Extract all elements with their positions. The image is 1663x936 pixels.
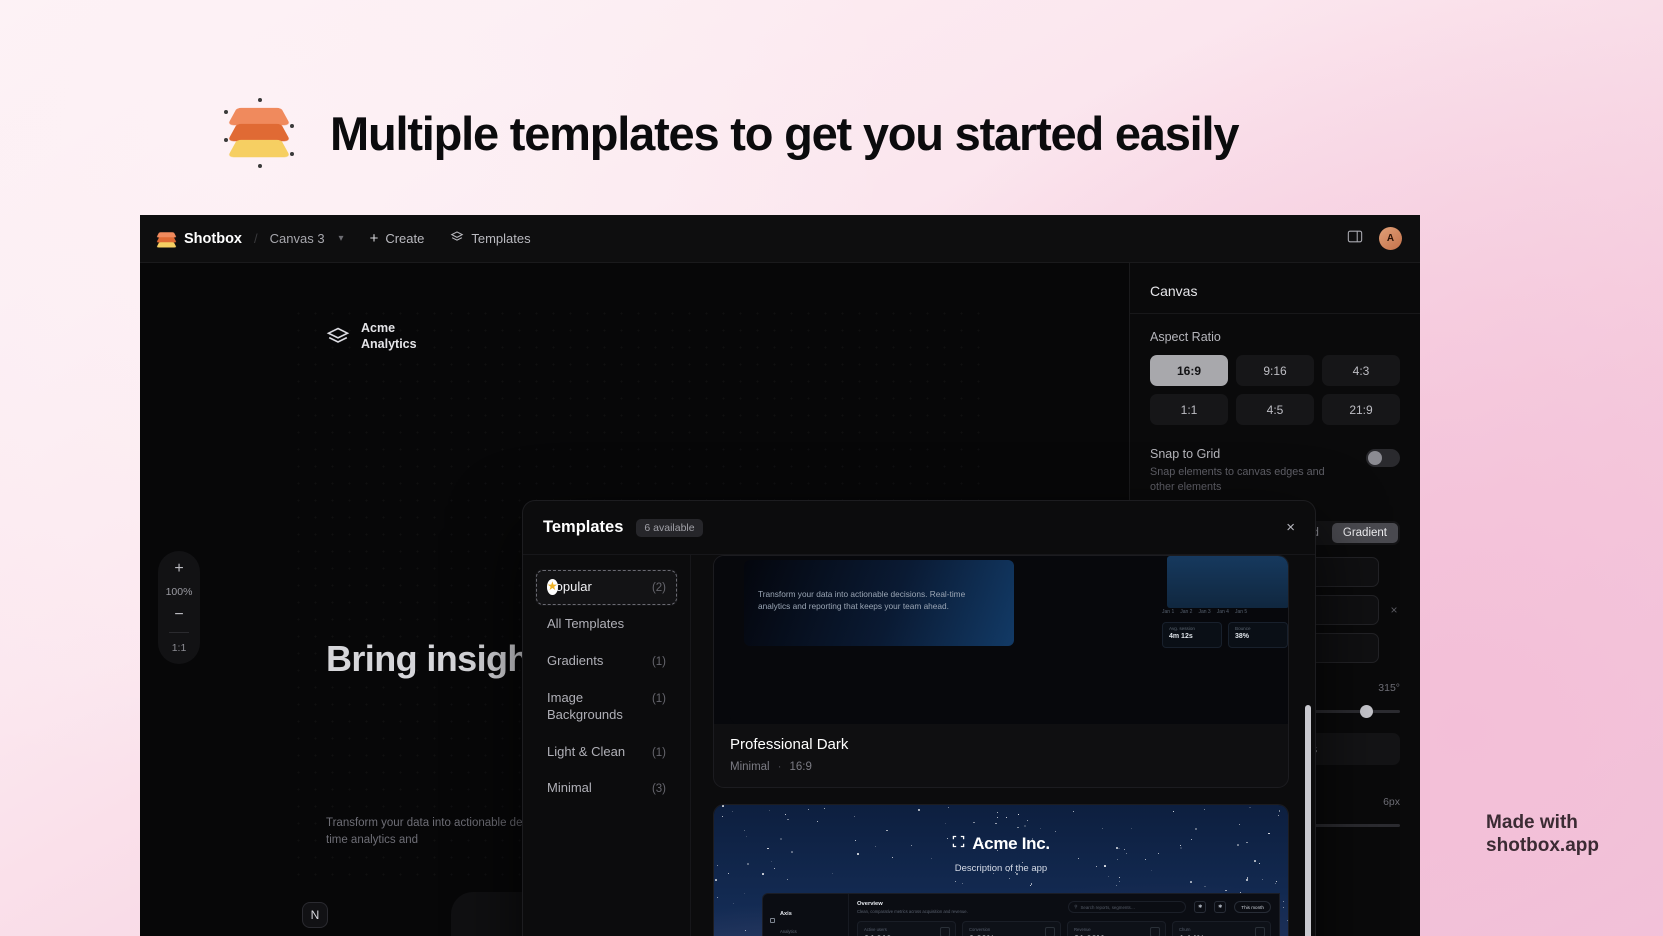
ratio-16-9[interactable]: 16:9 xyxy=(1150,355,1228,386)
category-popular[interactable]: ★ Popular (2) xyxy=(535,569,678,606)
category-count: (1) xyxy=(652,692,666,707)
create-button[interactable]: + Create xyxy=(370,230,425,247)
ratio-4-5[interactable]: 4:5 xyxy=(1236,394,1314,425)
modal-header: Templates 6 available × xyxy=(523,501,1315,555)
panel-title: Canvas xyxy=(1130,263,1420,313)
ratio-21-9[interactable]: 21:9 xyxy=(1322,394,1400,425)
background-mode-gradient[interactable]: Gradient xyxy=(1332,523,1398,543)
category-label: Image Backgrounds xyxy=(547,690,644,724)
users-icon xyxy=(940,927,950,936)
star-icon: ★ xyxy=(547,579,558,595)
category-label: Gradients xyxy=(547,653,603,670)
template-preview: Transform your data into actionable deci… xyxy=(714,556,1288,724)
templates-button[interactable]: Templates xyxy=(450,230,530,247)
template-preview: Acme Inc. Description of the app Axis xyxy=(714,805,1288,936)
aspect-ratio-grid: 16:9 9:16 4:3 1:1 4:5 21:9 xyxy=(1150,355,1400,425)
category-gradients[interactable]: Gradients (1) xyxy=(535,643,678,680)
template-meta: Professional Dark Minimal · 16:9 xyxy=(714,724,1288,787)
category-image-backgrounds[interactable]: Image Backgrounds (1) xyxy=(535,680,678,734)
crop-frame-icon xyxy=(952,833,965,846)
preview-hero-text: Transform your data into actionable deci… xyxy=(758,588,998,613)
preview-axis: Jan 1 Jan 2 Jan 3 Jan 4 Jan 5 xyxy=(1162,609,1288,615)
kpi-row: Active users 84,219 +12.4%vs last 30 day… xyxy=(857,921,1271,936)
slider-knob[interactable] xyxy=(1360,705,1373,718)
category-all-templates[interactable]: All Templates xyxy=(535,606,678,643)
zoom-level: 100% xyxy=(166,586,193,598)
templates-modal: Templates 6 available × ★ Popular (2) Al… xyxy=(522,500,1316,936)
ratio-4-3[interactable]: 4:3 xyxy=(1322,355,1400,386)
watermark: Made with shotbox.app xyxy=(1486,811,1599,859)
template-card[interactable]: Transform your data into actionable deci… xyxy=(713,555,1289,788)
template-card[interactable]: Acme Inc. Description of the app Axis xyxy=(713,804,1289,936)
category-count: (3) xyxy=(652,782,666,797)
page-title: Multiple templates to get you started ea… xyxy=(330,106,1238,161)
aspect-ratio-label: Aspect Ratio xyxy=(1150,330,1400,344)
asterisk-icon[interactable]: ✱ xyxy=(1214,901,1226,913)
kpi-card: Churn 1.14% -0.3%vs last 30 days xyxy=(1172,921,1271,936)
template-name: Professional Dark xyxy=(730,736,1272,753)
search-icon: ⚲ xyxy=(1074,904,1077,910)
app-window: Shotbox / Canvas 3 ▾ + Create Templates … xyxy=(140,215,1420,936)
create-label: Create xyxy=(385,231,424,246)
aspect-ratio-section: Aspect Ratio 16:9 9:16 4:3 1:1 4:5 21:9 xyxy=(1130,314,1420,425)
card-icon xyxy=(1150,927,1160,936)
preview-hero: Transform your data into actionable deci… xyxy=(744,560,1014,646)
preview-stat: Avg. session 4m 12s xyxy=(1162,622,1222,648)
ratio-1-1[interactable]: 1:1 xyxy=(1150,394,1228,425)
template-ratio: 16:9 xyxy=(789,761,811,773)
category-count: (1) xyxy=(652,746,666,761)
shotbox-logo-icon xyxy=(158,230,175,248)
modal-title: Templates xyxy=(543,518,623,537)
category-label: Light & Clean xyxy=(547,744,625,761)
brand-name: Shotbox xyxy=(184,231,242,247)
zoom-reset-button[interactable]: 1:1 xyxy=(172,642,187,654)
zoom-in-button[interactable]: + xyxy=(174,561,183,577)
dot-separator: · xyxy=(778,761,782,773)
roundness-value: 6px xyxy=(1383,796,1400,808)
category-minimal[interactable]: Minimal (3) xyxy=(535,770,678,807)
preview-subtitle: Description of the app xyxy=(714,863,1288,874)
breadcrumb-separator: / xyxy=(254,231,258,246)
artboard-brand: Acme Analytics xyxy=(326,321,417,352)
sparkle-icon[interactable]: ✱ xyxy=(1194,901,1206,913)
pulse-icon xyxy=(1045,927,1055,936)
stacked-layers-icon xyxy=(222,96,296,170)
close-icon[interactable]: × xyxy=(1388,603,1400,617)
close-icon[interactable]: × xyxy=(1286,520,1295,535)
category-label: All Templates xyxy=(547,616,624,633)
artboard-brand-text: Acme Analytics xyxy=(361,321,417,352)
template-grid[interactable]: Transform your data into actionable deci… xyxy=(691,555,1315,936)
snap-to-grid-toggle[interactable] xyxy=(1366,449,1400,467)
dashboard-sidebar: Axis Analytics Overview xyxy=(763,894,849,936)
kpi-card: Conversion 3.82% +0.6%vs last 30 days xyxy=(962,921,1061,936)
brand[interactable]: Shotbox xyxy=(158,230,242,248)
dashboard-brand: Axis Analytics xyxy=(770,902,841,936)
category-count: (1) xyxy=(652,655,666,670)
status-badge: 6 available xyxy=(636,519,702,537)
rotation-value: 315° xyxy=(1378,682,1400,694)
layers-icon xyxy=(326,326,350,348)
promo-banner: Multiple templates to get you started ea… xyxy=(0,78,1663,188)
category-light-clean[interactable]: Light & Clean (1) xyxy=(535,734,678,771)
category-list: ★ Popular (2) All Templates Gradients (1… xyxy=(523,555,691,936)
preview-title: Acme Inc. xyxy=(714,833,1288,854)
category-count: (2) xyxy=(652,581,666,596)
zoom-out-button[interactable]: − xyxy=(174,607,183,623)
avatar[interactable]: A xyxy=(1379,227,1402,250)
top-toolbar: Shotbox / Canvas 3 ▾ + Create Templates … xyxy=(140,215,1420,263)
modal-scrollbar[interactable] xyxy=(1305,705,1311,936)
templates-label: Templates xyxy=(471,231,530,246)
panel-layout-icon[interactable] xyxy=(1347,229,1363,249)
preview-stat: Bounce 38% xyxy=(1228,622,1288,648)
template-category: Minimal xyxy=(730,761,770,773)
dashboard-main: Overview Clean, comparative metrics acro… xyxy=(849,894,1279,936)
category-label: Minimal xyxy=(547,780,592,797)
corner-badge[interactable]: N xyxy=(302,902,328,928)
kpi-card: Revenue $1.28M +8.1%vs last 30 days xyxy=(1067,921,1166,936)
dashboard-search-input[interactable]: ⚲ Search reports, segments… xyxy=(1068,901,1186,913)
zoom-controls[interactable]: + 100% − 1:1 xyxy=(158,551,200,664)
layers-icon xyxy=(450,230,464,247)
user-icon xyxy=(770,918,775,923)
snap-to-grid-label: Snap to Grid xyxy=(1150,447,1350,461)
date-range-button[interactable]: This month xyxy=(1234,901,1271,913)
ratio-9-16[interactable]: 9:16 xyxy=(1236,355,1314,386)
chevron-down-icon[interactable]: ▾ xyxy=(339,233,344,244)
plus-icon: + xyxy=(370,230,379,247)
dashboard-header: Overview Clean, comparative metrics acro… xyxy=(857,901,1271,914)
kpi-card: Active users 84,219 +12.4%vs last 30 day… xyxy=(857,921,956,936)
canvas-name[interactable]: Canvas 3 xyxy=(270,231,325,246)
modal-body: ★ Popular (2) All Templates Gradients (1… xyxy=(523,555,1315,936)
preview-dashboard: Axis Analytics Overview xyxy=(762,893,1280,936)
down-icon xyxy=(1255,927,1265,936)
divider xyxy=(169,632,189,633)
preview-chart xyxy=(1167,556,1288,608)
snap-to-grid-section: Snap to Grid Snap elements to canvas edg… xyxy=(1130,425,1420,495)
snap-to-grid-description: Snap elements to canvas edges and other … xyxy=(1150,465,1350,495)
